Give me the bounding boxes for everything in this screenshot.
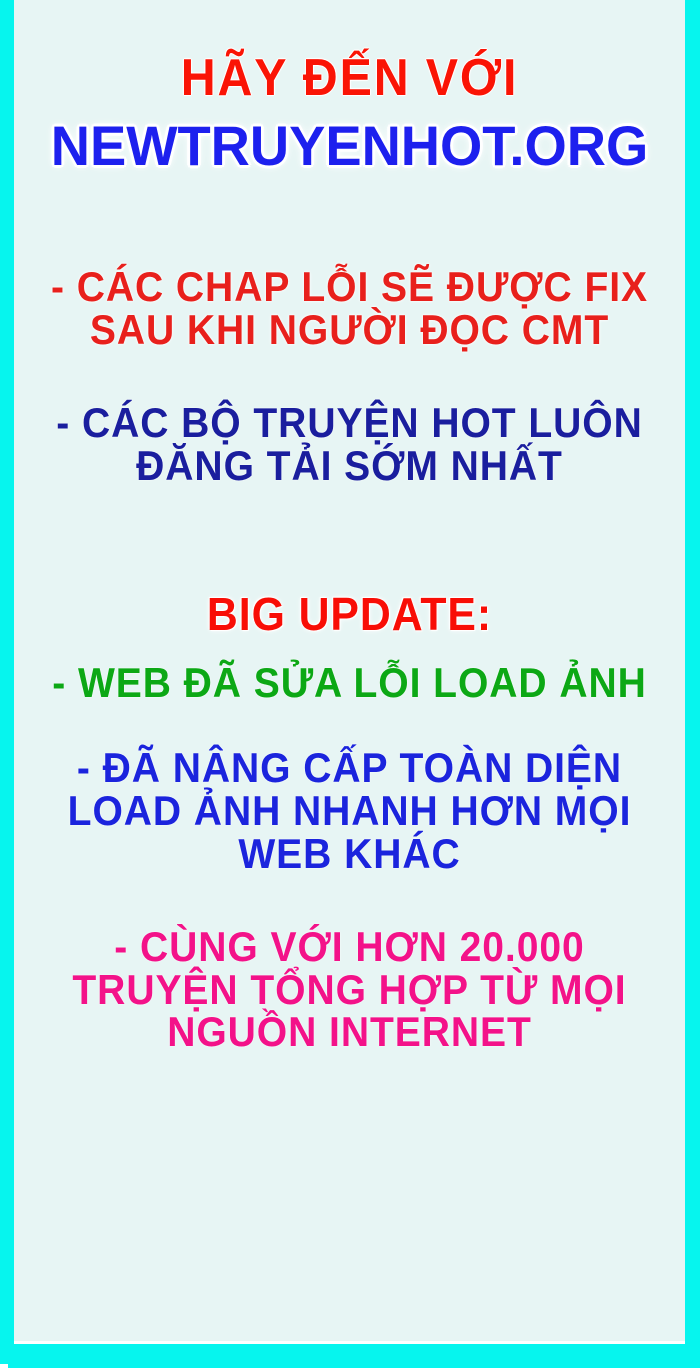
content-panel: HÃY ĐẾN VỚI NEWTRUYENHOT.ORG - CÁC CHAP … [14,0,685,1343]
notice-hot-series-line-2: ĐĂNG TẢI SỚM NHẤT [37,445,661,488]
update-item-full-upgrade: - ĐÃ NÂNG CẤP TOÀN DIỆN LOAD ẢNH NHANH H… [14,747,685,875]
notice-fix-chapters-line-2: SAU KHI NGƯỜI ĐỌC CMT [37,309,661,352]
big-update-title: BIG UPDATE: [37,591,661,638]
notice-fix-chapters: - CÁC CHAP LỖI SẼ ĐƯỢC FIX SAU KHI NGƯỜI… [14,266,685,352]
header-block: HÃY ĐẾN VỚI NEWTRUYENHOT.ORG [14,52,685,174]
bottom-left-corner-notch [0,1364,8,1368]
update-item-catalog-size: - CÙNG VỚI HƠN 20.000 TRUYỆN TỔNG HỢP TỪ… [14,926,685,1054]
announcement-page: HÃY ĐẾN VỚI NEWTRUYENHOT.ORG - CÁC CHAP … [0,0,700,1368]
update-item-catalog-size-line-2: TRUYỆN TỔNG HỢP TỪ MỌI [37,969,661,1012]
notice-hot-series: - CÁC BỘ TRUYỆN HOT LUÔN ĐĂNG TẢI SỚM NH… [14,402,685,488]
notice-fix-chapters-line-1: - CÁC CHAP LỖI SẼ ĐƯỢC FIX [37,266,661,309]
update-item-catalog-size-line-1: - CÙNG VỚI HƠN 20.000 [37,926,661,969]
update-item-full-upgrade-line-2: LOAD ẢNH NHANH HƠN MỌI [37,790,661,833]
update-item-full-upgrade-line-1: - ĐÃ NÂNG CẤP TOÀN DIỆN [37,747,661,790]
bottom-hairline-divider [14,1341,685,1344]
site-domain-headline[interactable]: NEWTRUYENHOT.ORG [24,117,675,174]
invite-headline: HÃY ĐẾN VỚI [37,52,661,105]
update-item-image-load-fixed-line-1: - WEB ĐÃ SỬA LỖI LOAD ẢNH [37,662,661,705]
update-item-image-load-fixed: - WEB ĐÃ SỬA LỖI LOAD ẢNH [14,662,685,705]
update-item-full-upgrade-line-3: WEB KHÁC [37,833,661,876]
notice-hot-series-line-1: - CÁC BỘ TRUYỆN HOT LUÔN [37,402,661,445]
update-item-catalog-size-line-3: NGUỒN INTERNET [37,1011,661,1054]
